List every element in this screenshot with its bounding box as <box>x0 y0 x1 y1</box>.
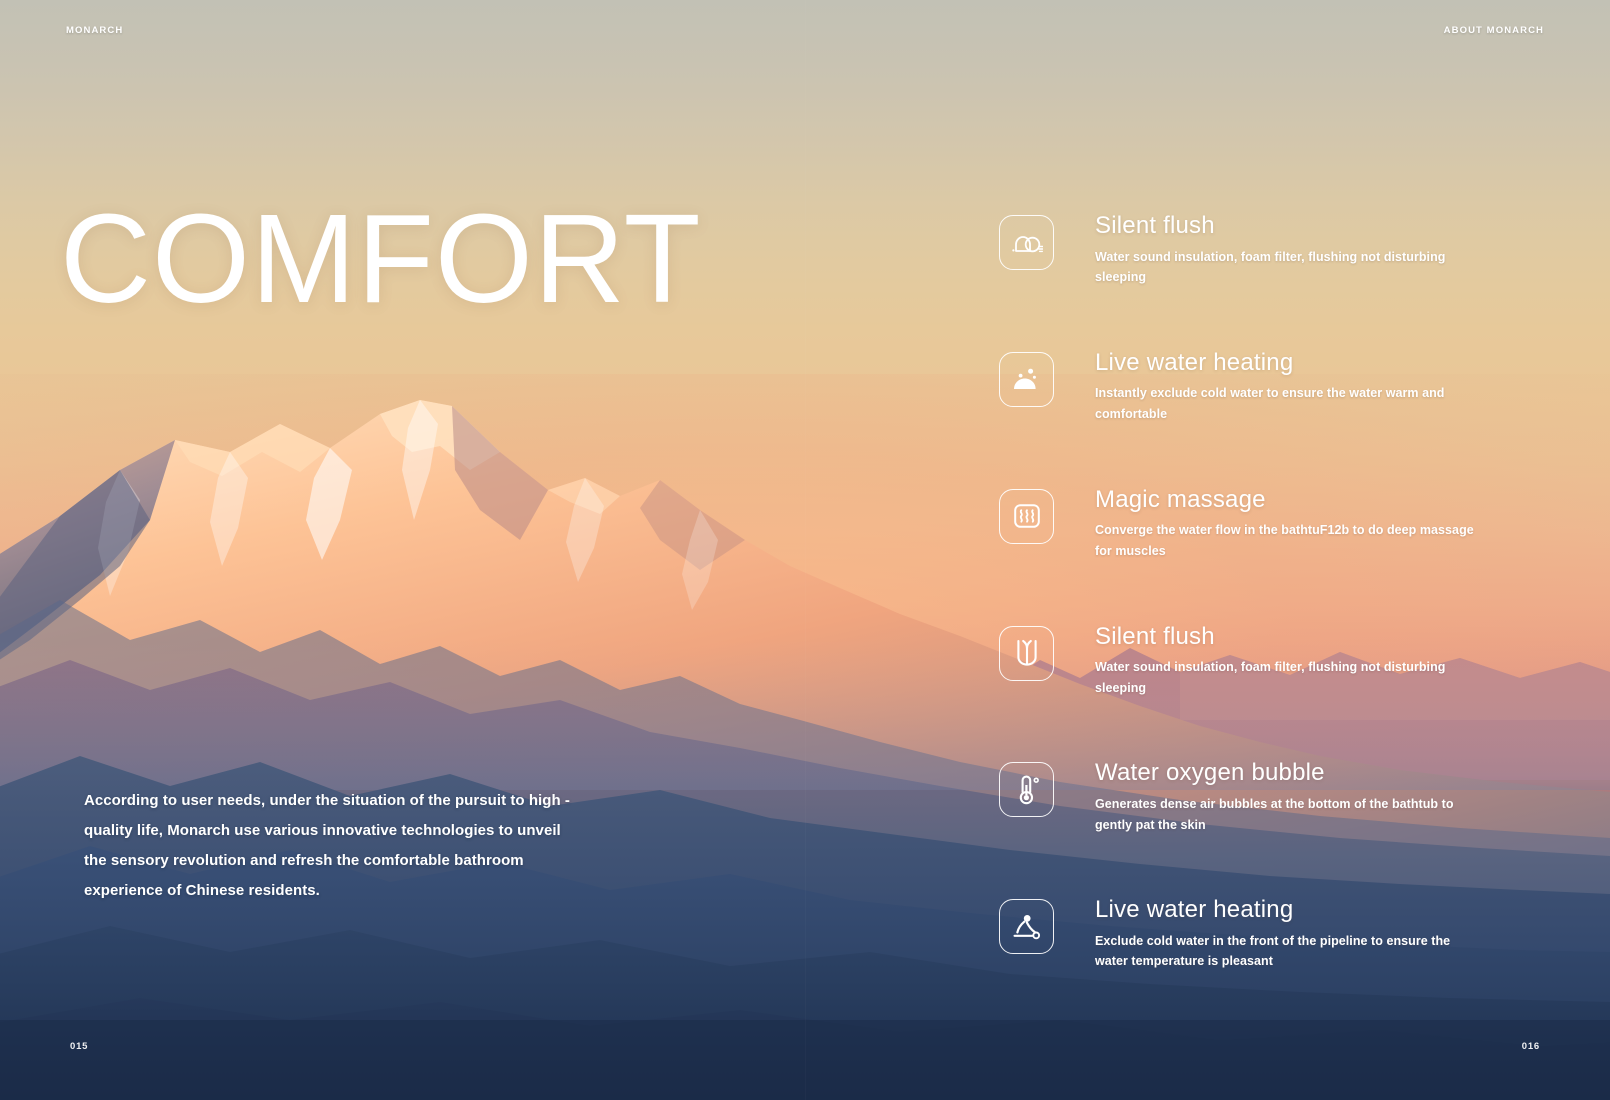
page-title: COMFORT <box>60 196 702 322</box>
slide-page: MONARCH ABOUT MONARCH COMFORT According … <box>0 0 1610 1100</box>
feature-description: Instantly exclude cold water to ensure t… <box>1095 383 1477 424</box>
list-item[interactable]: Live water heating Instantly exclude col… <box>999 349 1559 425</box>
feature-text: Live water heating Exclude cold water in… <box>1095 896 1477 972</box>
thermometer-icon <box>999 762 1054 817</box>
page-number-right: 016 <box>1522 1041 1540 1052</box>
feature-text: Silent flush Water sound insulation, foa… <box>1095 623 1477 699</box>
feature-text: Magic massage Converge the water flow in… <box>1095 486 1477 562</box>
feature-title: Water oxygen bubble <box>1095 759 1477 787</box>
bubbles-icon <box>999 215 1054 270</box>
feature-title: Silent flush <box>1095 212 1477 240</box>
feature-text: Live water heating Instantly exclude col… <box>1095 349 1477 425</box>
list-item[interactable]: Live water heating Exclude cold water in… <box>999 896 1559 972</box>
intro-paragraph: According to user needs, under the situa… <box>84 786 584 906</box>
feature-title: Live water heating <box>1095 896 1477 924</box>
feature-title: Magic massage <box>1095 486 1477 514</box>
feature-text: Water oxygen bubble Generates dense air … <box>1095 759 1477 835</box>
feature-title: Live water heating <box>1095 349 1477 377</box>
faucet-icon <box>999 899 1054 954</box>
brand-logo[interactable]: MONARCH <box>66 25 123 36</box>
feature-list: Silent flush Water sound insulation, foa… <box>999 212 1559 972</box>
list-item[interactable]: Water oxygen bubble Generates dense air … <box>999 759 1559 835</box>
feature-description: Water sound insulation, foam filter, flu… <box>1095 247 1477 288</box>
feature-description: Exclude cold water in the front of the p… <box>1095 931 1477 972</box>
feature-description: Generates dense air bubbles at the botto… <box>1095 794 1477 835</box>
feature-text: Silent flush Water sound insulation, foa… <box>1095 212 1477 288</box>
page-number-left: 015 <box>70 1041 88 1052</box>
heating-element-icon <box>999 489 1054 544</box>
list-item[interactable]: Silent flush Water sound insulation, foa… <box>999 212 1559 288</box>
feature-description: Water sound insulation, foam filter, flu… <box>1095 657 1477 698</box>
feature-title: Silent flush <box>1095 623 1477 651</box>
top-bar: MONARCH ABOUT MONARCH <box>0 0 1610 60</box>
list-item[interactable]: Magic massage Converge the water flow in… <box>999 486 1559 562</box>
foam-mound-icon <box>999 352 1054 407</box>
list-item[interactable]: Silent flush Water sound insulation, foa… <box>999 623 1559 699</box>
u-trap-icon <box>999 626 1054 681</box>
feature-description: Converge the water flow in the bathtuF12… <box>1095 520 1477 561</box>
nav-about-monarch[interactable]: ABOUT MONARCH <box>1444 25 1544 36</box>
